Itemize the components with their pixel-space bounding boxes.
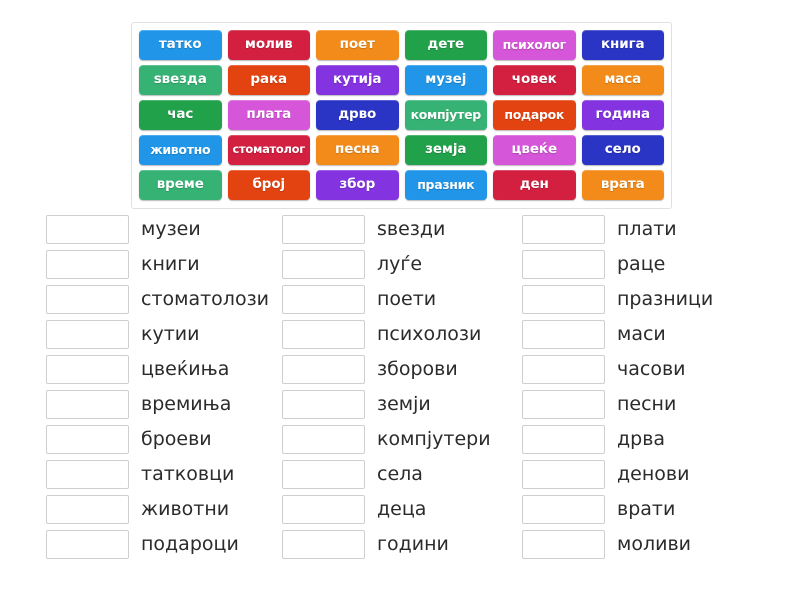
word-tile[interactable]: час [139, 100, 222, 130]
word-tile[interactable]: маса [582, 65, 665, 95]
word-tile[interactable]: збор [316, 170, 399, 200]
answer-label: кутии [141, 325, 199, 344]
answer-row: раце [522, 247, 762, 282]
word-tile[interactable]: човек [493, 65, 576, 95]
answer-row: татковци [46, 457, 282, 492]
answer-columns: музеикнигистоматолозикутиицвеќињавремиња… [0, 212, 800, 562]
answer-row: психолози [282, 317, 522, 352]
answer-label: цвеќиња [141, 360, 229, 379]
tile-row: таткомоливпоетдетепсихологкнига [136, 28, 667, 63]
answer-row: животни [46, 492, 282, 527]
tile-row: часплатадрвокомпјутерподарокгодина [136, 98, 667, 133]
drop-target-box[interactable] [46, 495, 129, 524]
drop-target-box[interactable] [282, 530, 365, 559]
drop-target-box[interactable] [282, 215, 365, 244]
drop-target-box[interactable] [522, 355, 605, 384]
answer-label: часови [617, 360, 686, 379]
answer-label: татковци [141, 465, 234, 484]
word-tile[interactable]: компјутер [405, 100, 488, 130]
answer-row: цвеќиња [46, 352, 282, 387]
drop-target-box[interactable] [46, 425, 129, 454]
answer-row: стоматолози [46, 282, 282, 317]
answer-row: врати [522, 492, 762, 527]
drop-target-box[interactable] [282, 390, 365, 419]
word-tile[interactable]: дете [405, 30, 488, 60]
drop-target-box[interactable] [522, 250, 605, 279]
drop-target-box[interactable] [282, 355, 365, 384]
answer-label: маси [617, 325, 666, 344]
answer-row: книги [46, 247, 282, 282]
answer-label: книги [141, 255, 200, 274]
answer-label: песни [617, 395, 676, 414]
word-tile[interactable]: подарок [493, 100, 576, 130]
word-tile[interactable]: време [139, 170, 222, 200]
word-tile[interactable]: ѕвезда [139, 65, 222, 95]
word-tile[interactable]: рака [228, 65, 311, 95]
answer-label: стоматолози [141, 290, 269, 309]
answer-row: денови [522, 457, 762, 492]
answer-row: музеи [46, 212, 282, 247]
answer-label: моливи [617, 535, 691, 554]
drop-target-box[interactable] [282, 425, 365, 454]
answer-row: поети [282, 282, 522, 317]
word-tile[interactable]: поет [316, 30, 399, 60]
answer-row: компјутери [282, 422, 522, 457]
word-tile[interactable]: кутија [316, 65, 399, 95]
drop-target-box[interactable] [282, 285, 365, 314]
word-tile[interactable]: ден [493, 170, 576, 200]
answer-row: деца [282, 492, 522, 527]
answer-row: дрва [522, 422, 762, 457]
word-tile[interactable]: песна [316, 135, 399, 165]
drop-target-box[interactable] [522, 425, 605, 454]
answer-label: празници [617, 290, 713, 309]
answer-label: ѕвезди [377, 220, 445, 239]
word-tile[interactable]: книга [582, 30, 665, 60]
answer-row: моливи [522, 527, 762, 562]
word-tile[interactable]: молив [228, 30, 311, 60]
drop-target-box[interactable] [522, 215, 605, 244]
drop-target-box[interactable] [46, 390, 129, 419]
answer-row: часови [522, 352, 762, 387]
answer-label: плати [617, 220, 677, 239]
answer-row: подароци [46, 527, 282, 562]
drop-target-box[interactable] [46, 460, 129, 489]
answer-label: деца [377, 500, 426, 519]
word-tile[interactable]: село [582, 135, 665, 165]
word-tile[interactable]: психолог [493, 30, 576, 60]
drop-target-box[interactable] [522, 320, 605, 349]
answer-label: земји [377, 395, 431, 414]
answer-row: земји [282, 387, 522, 422]
word-tile-bank: таткомоливпоетдетепсихологкнигаѕвездарак… [131, 22, 672, 209]
answer-label: времиња [141, 395, 231, 414]
answer-label: психолози [377, 325, 481, 344]
drop-target-box[interactable] [522, 390, 605, 419]
answer-label: денови [617, 465, 689, 484]
answer-label: села [377, 465, 423, 484]
drop-target-box[interactable] [282, 460, 365, 489]
match-exercise-page: таткомоливпоетдетепсихологкнигаѕвездарак… [0, 0, 800, 600]
drop-target-box[interactable] [282, 320, 365, 349]
answer-row: маси [522, 317, 762, 352]
answer-label: животни [141, 500, 229, 519]
word-tile[interactable]: земја [405, 135, 488, 165]
drop-target-box[interactable] [46, 355, 129, 384]
drop-target-box[interactable] [522, 530, 605, 559]
drop-target-box[interactable] [282, 250, 365, 279]
answer-label: музеи [141, 220, 201, 239]
answer-label: компјутери [377, 430, 491, 449]
word-tile[interactable]: татко [139, 30, 222, 60]
drop-target-box[interactable] [522, 460, 605, 489]
answer-column: платирацепразницимасичасовипеснидрвадено… [522, 212, 762, 562]
word-tile[interactable]: цвеќе [493, 135, 576, 165]
answer-row: зборови [282, 352, 522, 387]
answer-column: музеикнигистоматолозикутиицвеќињавремиња… [46, 212, 282, 562]
word-tile[interactable]: плата [228, 100, 311, 130]
tile-row: животностоматологпесназемјацвеќесело [136, 133, 667, 168]
word-tile[interactable]: дрво [316, 100, 399, 130]
answer-column: ѕвездилуѓепоетипсихолозизборовиземјикомп… [282, 212, 522, 562]
answer-row: луѓе [282, 247, 522, 282]
answer-row: плати [522, 212, 762, 247]
drop-target-box[interactable] [522, 495, 605, 524]
answer-label: зборови [377, 360, 458, 379]
drop-target-box[interactable] [46, 215, 129, 244]
word-tile[interactable]: стоматолог [228, 135, 311, 165]
answer-row: ѕвезди [282, 212, 522, 247]
drop-target-box[interactable] [46, 285, 129, 314]
word-tile[interactable]: број [228, 170, 311, 200]
answer-label: раце [617, 255, 665, 274]
drop-target-box[interactable] [46, 320, 129, 349]
answer-row: кутии [46, 317, 282, 352]
answer-label: луѓе [377, 255, 422, 274]
drop-target-box[interactable] [522, 285, 605, 314]
answer-label: дрва [617, 430, 665, 449]
answer-label: години [377, 535, 449, 554]
tile-row: ѕвездаракакутијамузејчовекмаса [136, 63, 667, 98]
answer-label: поети [377, 290, 436, 309]
answer-row: празници [522, 282, 762, 317]
word-tile[interactable]: врата [582, 170, 665, 200]
answer-row: броеви [46, 422, 282, 457]
answer-row: села [282, 457, 522, 492]
drop-target-box[interactable] [282, 495, 365, 524]
word-tile[interactable]: музеј [405, 65, 488, 95]
answer-label: врати [617, 500, 675, 519]
answer-label: броеви [141, 430, 212, 449]
tile-row: времебројзборпразникденврата [136, 168, 667, 203]
word-tile[interactable]: празник [405, 170, 488, 200]
answer-row: песни [522, 387, 762, 422]
drop-target-box[interactable] [46, 250, 129, 279]
answer-label: подароци [141, 535, 239, 554]
answer-row: времиња [46, 387, 282, 422]
word-tile[interactable]: година [582, 100, 665, 130]
word-tile[interactable]: животно [139, 135, 222, 165]
drop-target-box[interactable] [46, 530, 129, 559]
answer-row: години [282, 527, 522, 562]
